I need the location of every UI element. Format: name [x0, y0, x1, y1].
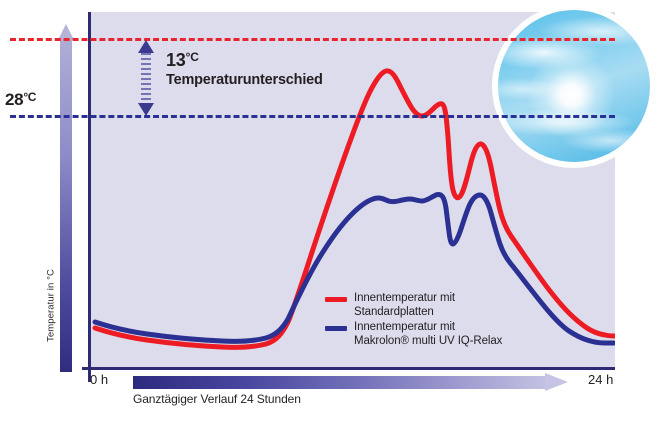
x-axis-caption: Ganztägiger Verlauf 24 Stunden	[133, 392, 301, 406]
annotation-value-unit: °C	[186, 50, 199, 64]
reference-value-number: 28	[5, 90, 23, 109]
legend: Innentemperatur mit Standardplatten Inne…	[325, 292, 555, 350]
legend-item-label: Innentemperatur mit Standardplatten	[354, 292, 455, 319]
reference-value-unit: °C	[23, 90, 36, 104]
y-axis-title: Temperatur in °C	[46, 251, 57, 361]
arrow-shaft	[60, 38, 72, 372]
x-axis-start-label: 0 h	[90, 372, 108, 387]
x-axis-end-label: 24 h	[588, 372, 613, 387]
double-arrow-icon	[134, 40, 158, 116]
annotation-caption: Temperaturunterschied	[166, 71, 366, 90]
arrow-head-right-icon	[545, 373, 568, 391]
annotation-value: 13°C	[166, 46, 366, 71]
line-swatch-icon	[325, 326, 347, 331]
arrow-head-up-icon	[138, 40, 154, 53]
arrow-head-down-icon	[138, 103, 154, 116]
annotation-text-block: 13°C Temperaturunterschied	[166, 46, 366, 90]
legend-item: Innentemperatur mit Standardplatten	[325, 292, 555, 319]
arrow-stripes	[141, 53, 151, 103]
reference-value-label: 28°C	[5, 90, 36, 110]
legend-item: Innentemperatur mit Makrolon® multi UV I…	[325, 321, 555, 348]
temperature-difference-annotation: 13°C Temperaturunterschied	[134, 40, 364, 118]
annotation-value-number: 13	[166, 50, 186, 70]
time-gradient-arrow-icon	[133, 376, 568, 389]
gradient-bar-body	[133, 376, 545, 389]
legend-item-label: Innentemperatur mit Makrolon® multi UV I…	[354, 321, 502, 348]
line-swatch-icon	[325, 297, 347, 302]
temperature-scale-arrow-icon	[58, 24, 74, 372]
chart-figure: Temperatur in °C 28°C 13°C Temperaturunt…	[0, 0, 666, 422]
